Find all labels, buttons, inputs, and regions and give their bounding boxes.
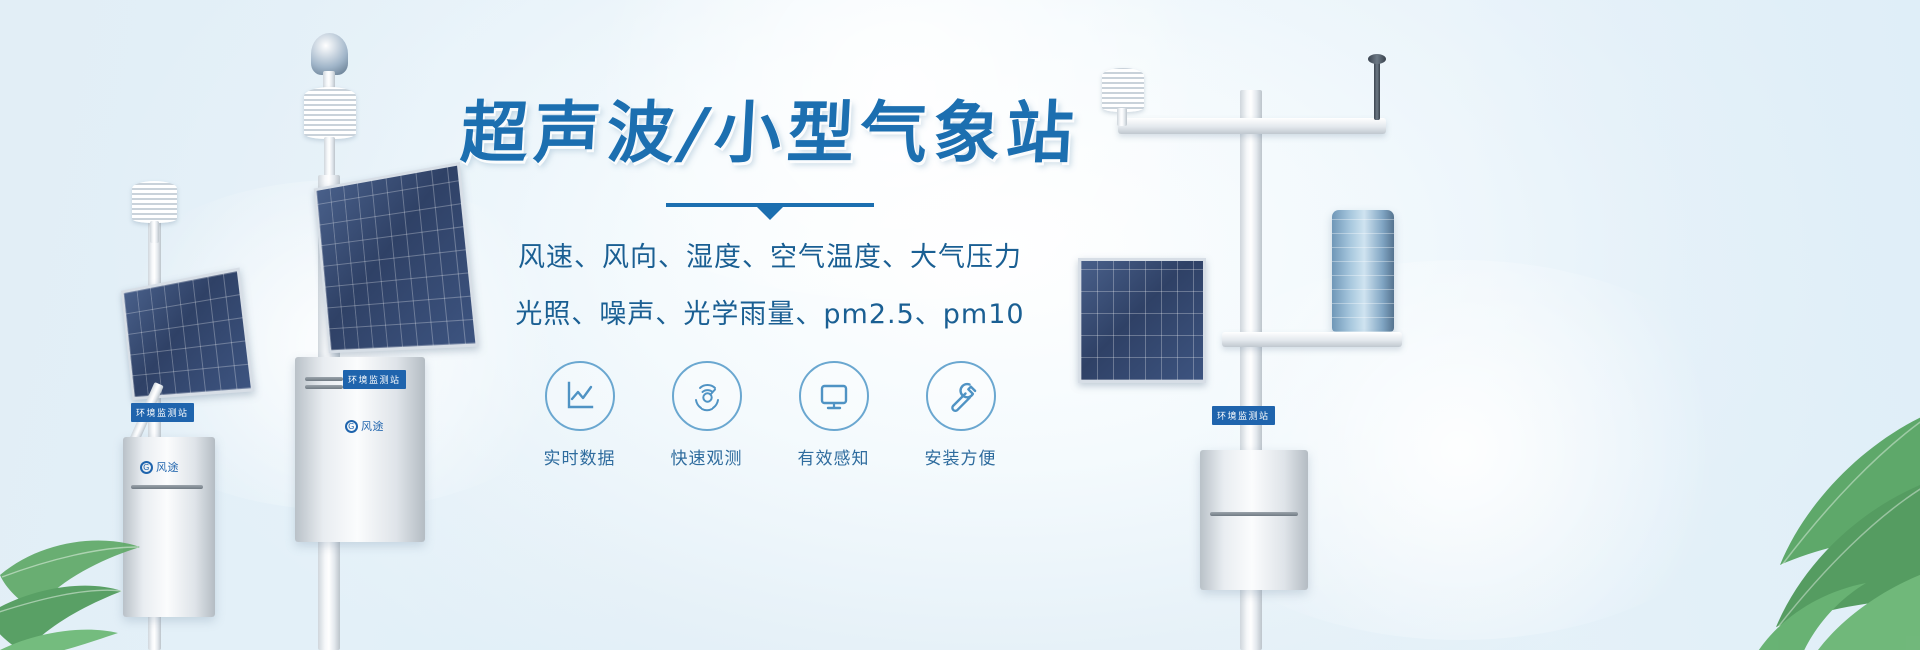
shield-mount-right	[1117, 108, 1127, 126]
shield-stem-center	[324, 137, 335, 179]
upper-cross-arm	[1118, 118, 1386, 134]
antenna-rod	[1374, 58, 1380, 120]
right-station-cabinet	[1200, 450, 1308, 590]
brand-name-center: 风途	[361, 418, 384, 434]
title-divider	[666, 203, 874, 207]
antenna-tip	[1368, 54, 1386, 64]
solar-panel	[121, 267, 254, 400]
radar-observation-icon	[688, 377, 726, 415]
banner-content: 超声波/小型气象站 风速、风向、湿度、空气温度、大气压力 光照、噪声、光学雨量、…	[440, 100, 1100, 480]
left-weather-station: 环境监测站 G 风途	[95, 165, 295, 650]
ultrasonic-wind-sensor	[311, 33, 348, 75]
sensor-neck	[150, 221, 159, 243]
subtitle-line-1: 风速、风向、湿度、空气温度、大气压力	[440, 235, 1100, 274]
cabinet-tag-left: 环境监测站	[131, 403, 194, 422]
cabinet-vent-strip-right	[1210, 512, 1298, 516]
cabinet-tag-right: 环境监测站	[1212, 406, 1275, 425]
brand-mark-icon-center: G	[345, 420, 358, 433]
headline-part-2: 小型气象站	[712, 94, 1081, 172]
brand-mark-icon: G	[140, 461, 153, 474]
radiation-shield-sensor-center	[304, 87, 356, 139]
wrench-icon	[942, 377, 980, 415]
feature-icon-circle-4	[926, 361, 996, 431]
headline-slash: /	[678, 94, 717, 172]
feature-item-fast-observation[interactable]: 快速观测	[666, 361, 748, 469]
monitor-screen-icon	[815, 377, 853, 415]
brand-logo-left: G 风途	[140, 459, 179, 475]
feature-item-realtime-data[interactable]: 实时数据	[539, 361, 621, 469]
lower-cross-arm	[1222, 332, 1402, 347]
feature-item-easy-installation[interactable]: 安装方便	[920, 361, 1002, 469]
radiation-shield-sensor-right	[1102, 68, 1144, 112]
cabinet-vent-strip-center-2	[305, 385, 343, 389]
weather-station-banner: 环境监测站 G 风途 环境监测站 G 风途	[0, 0, 1920, 650]
cabinet-vent-strip-center	[305, 377, 343, 381]
feature-label-1: 实时数据	[539, 444, 621, 469]
right-weather-station: 环境监测站	[1060, 50, 1460, 650]
brand-logo-center: G 风途	[345, 418, 384, 434]
optical-rain-gauge	[1332, 210, 1394, 332]
cabinet-tag-center: 环境监测站	[343, 370, 406, 389]
feature-icon-circle-2	[672, 361, 742, 431]
feature-icon-circle-1	[545, 361, 615, 431]
subtitle-line-2: 光照、噪声、光学雨量、pm2.5、pm10	[440, 292, 1100, 331]
brand-name-left: 风途	[156, 459, 179, 475]
feature-icon-circle-3	[799, 361, 869, 431]
cabinet-vent-strip	[131, 485, 203, 489]
feature-list: 实时数据 快	[440, 361, 1100, 469]
page-title: 超声波/小型气象站	[438, 100, 1102, 167]
headline-part-1: 超声波	[459, 94, 682, 172]
radiation-shield-sensor	[132, 181, 177, 223]
feature-item-effective-sensing[interactable]: 有效感知	[793, 361, 875, 469]
line-chart-icon	[561, 377, 599, 415]
feature-label-3: 有效感知	[793, 444, 875, 469]
chevron-down-icon	[757, 207, 783, 220]
feature-label-2: 快速观测	[666, 444, 748, 469]
feature-label-4: 安装方便	[920, 444, 1002, 469]
